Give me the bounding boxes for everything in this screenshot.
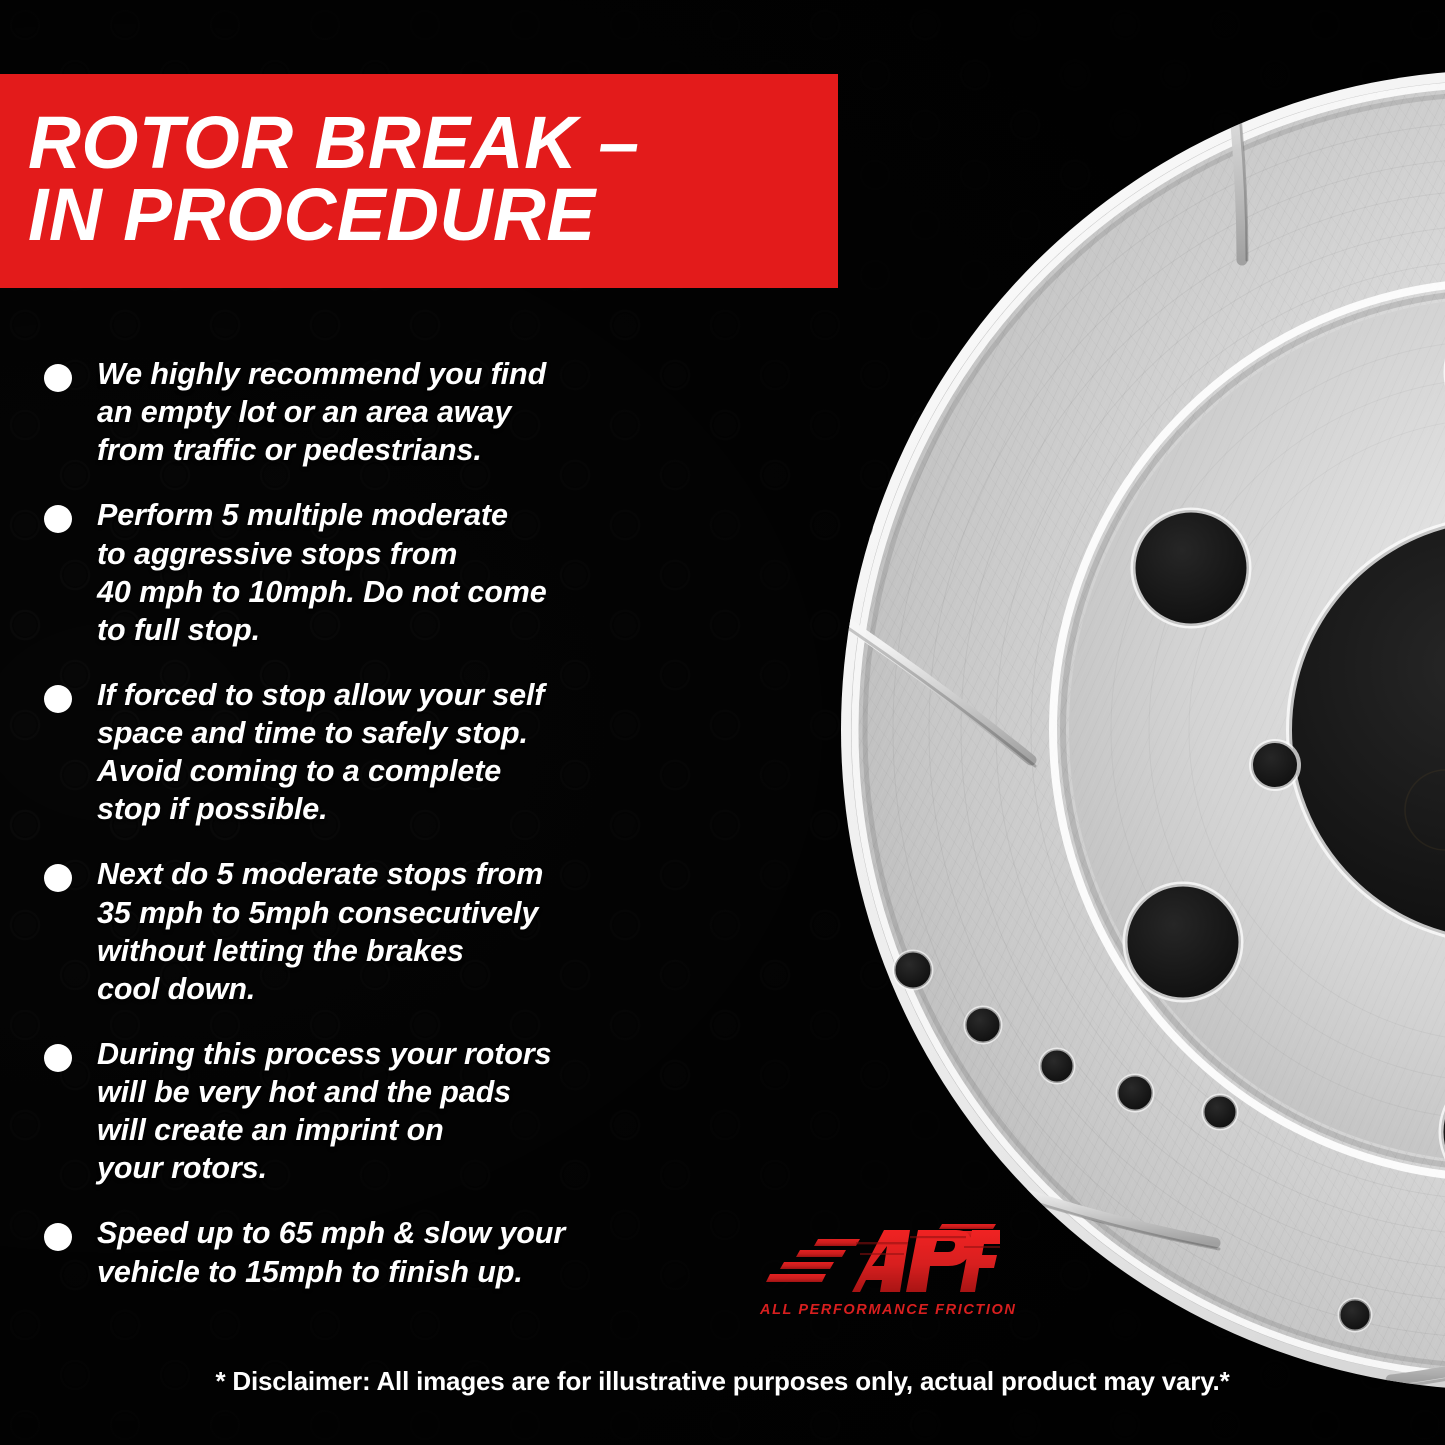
- bullet-dot-icon: [44, 505, 72, 533]
- procedure-step-list: We highly recommend you find an empty lo…: [44, 355, 764, 1318]
- list-item-text: We highly recommend you find an empty lo…: [97, 355, 546, 469]
- list-item-text: Perform 5 multiple moderate to aggressiv…: [97, 496, 547, 649]
- list-item: Speed up to 65 mph & slow your vehicle t…: [44, 1214, 764, 1290]
- apf-logo: ALL PERFORMANCE FRICTION: [760, 1222, 1000, 1334]
- list-item: During this process your rotors will be …: [44, 1035, 764, 1188]
- page-title-line-1: ROTOR BREAK –: [28, 107, 830, 179]
- list-item: Perform 5 multiple moderate to aggressiv…: [44, 496, 764, 649]
- bullet-dot-icon: [44, 1223, 72, 1251]
- list-item-text: During this process your rotors will be …: [97, 1035, 551, 1188]
- list-item: We highly recommend you find an empty lo…: [44, 355, 764, 469]
- bullet-dot-icon: [44, 864, 72, 892]
- list-item-text: If forced to stop allow your self space …: [97, 676, 544, 829]
- list-item: Next do 5 moderate stops from 35 mph to …: [44, 855, 764, 1008]
- title-banner: ROTOR BREAK – IN PROCEDURE: [0, 74, 838, 288]
- list-item-text: Next do 5 moderate stops from 35 mph to …: [97, 855, 543, 1008]
- rotor-break-in-infographic: ROTOR BREAK – IN PROCEDURE We highly rec…: [0, 0, 1445, 1445]
- bullet-dot-icon: [44, 685, 72, 713]
- bullet-dot-icon: [44, 1044, 72, 1072]
- bullet-dot-icon: [44, 364, 72, 392]
- page-title-line-2: IN PROCEDURE: [28, 179, 830, 251]
- disclaimer-text: * Disclaimer: All images are for illustr…: [0, 1366, 1445, 1397]
- apf-tagline: ALL PERFORMANCE FRICTION: [760, 1302, 1000, 1318]
- apf-wordmark-icon: [760, 1222, 1000, 1298]
- list-item-text: Speed up to 65 mph & slow your vehicle t…: [97, 1214, 565, 1290]
- list-item: If forced to stop allow your self space …: [44, 676, 764, 829]
